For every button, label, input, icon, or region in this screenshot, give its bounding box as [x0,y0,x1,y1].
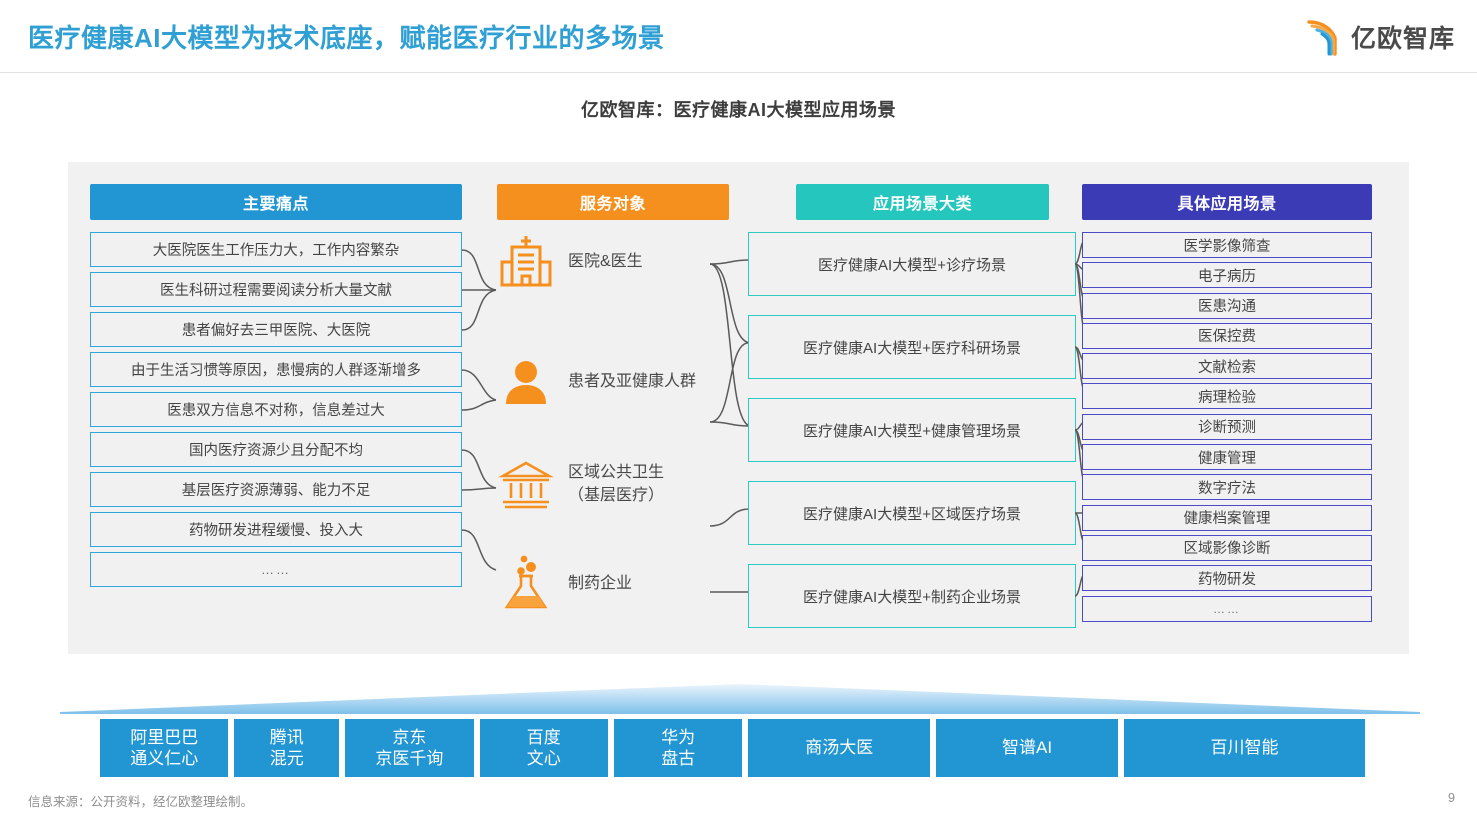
pain-point-item: 医患双方信息不对称，信息差过大 [90,392,462,427]
pain-point-item: 患者偏好去三甲医院、大医院 [90,312,462,347]
specific-scenario-item: 医患沟通 [1082,293,1372,319]
pain-point-item: 由于生活习惯等原因，患慢病的人群逐渐增多 [90,352,462,387]
company-line1: 商汤大医 [805,737,873,758]
company-item[interactable]: 阿里巴巴 通义仁心 [100,719,228,777]
chart-subtitle: 亿欧智库：医疗健康AI大模型应用场景 [0,96,1477,122]
specific-scenario-item: 数字疗法 [1082,474,1372,500]
company-item[interactable]: 商汤大医 [748,719,930,777]
company-line2: 混元 [270,748,304,769]
company-list: 阿里巴巴 通义仁心 腾讯 混元 京东 京医千询 百度 文心 华为 盘古 商汤大医… [100,719,1365,777]
company-line2: 通义仁心 [130,748,198,769]
scenario-category-item: 医疗健康AI大模型+诊疗场景 [748,232,1076,296]
service-object-label: 区域公共卫生 （基层医疗） [568,461,664,507]
service-object-row: 患者及亚健康人群 [498,352,696,412]
page-number: 9 [1448,791,1455,805]
scenario-category-item: 医疗健康AI大模型+健康管理场景 [748,398,1076,462]
brand-logo: 亿欧智库 [1305,14,1455,60]
slide-page: 医疗健康AI大模型为技术底座，赋能医疗行业的多场景 亿欧智库 亿欧智库：医疗健康… [0,0,1477,819]
scenario-category-item: 医疗健康AI大模型+制药企业场景 [748,564,1076,628]
specific-scenario-item: 健康档案管理 [1082,505,1372,531]
specific-scenario-item: 健康管理 [1082,444,1372,470]
logo-text: 亿欧智库 [1351,19,1455,55]
company-item[interactable]: 百川智能 [1124,719,1365,777]
service-object-row: 医院&医生 [498,232,643,292]
company-item[interactable]: 京东 京医千询 [345,719,473,777]
specific-scenario-list: 医学影像筛查 电子病历 医患沟通 医保控费 文献检索 病理检验 诊断预测 健康管… [1082,232,1372,626]
service-object-label-line1: 区域公共卫生 [568,461,664,484]
column-header-service: 服务对象 [497,184,729,220]
company-line1: 京东 [392,727,426,748]
service-object-list: 医院&医生 患者及亚健康人群 [488,224,738,624]
pain-point-item: 医生科研过程需要阅读分析大量文献 [90,272,462,307]
pain-point-item: 国内医疗资源少且分配不均 [90,432,462,467]
service-object-row: 制药企业 [498,554,632,614]
service-object-row: 区域公共卫生 （基层医疗） [498,454,664,514]
company-item[interactable]: 华为 盘古 [614,719,742,777]
company-line2: 京医千询 [375,748,443,769]
service-object-label: 医院&医生 [568,250,643,273]
funnel-arrow-shape [60,668,1420,714]
service-object-label: 制药企业 [568,572,632,595]
specific-scenario-item: 诊断预测 [1082,414,1372,440]
company-item[interactable]: 腾讯 混元 [234,719,339,777]
person-icon [498,352,554,412]
pain-point-list: 大医院医生工作压力大，工作内容繁杂 医生科研过程需要阅读分析大量文献 患者偏好去… [90,232,462,592]
source-note: 信息来源：公开资料，经亿欧整理绘制。 [28,791,253,810]
service-object-label-line2: （基层医疗） [568,484,664,507]
service-object-label: 患者及亚健康人群 [568,370,696,393]
government-building-icon [498,454,554,514]
company-line1: 百度 [527,727,561,748]
slide-header: 医疗健康AI大模型为技术底座，赋能医疗行业的多场景 亿欧智库 [0,0,1477,72]
company-line1: 智谱AI [1002,737,1052,758]
specific-scenario-item: 医学影像筛查 [1082,232,1372,258]
pain-point-item: 基层医疗资源薄弱、能力不足 [90,472,462,507]
pain-point-item-ellipsis: …… [90,552,462,587]
yiou-logo-icon [1305,16,1347,58]
company-item[interactable]: 百度 文心 [480,719,608,777]
header-divider [0,72,1477,73]
hospital-icon [498,232,554,292]
specific-scenario-item: 电子病历 [1082,262,1372,288]
company-item[interactable]: 智谱AI [936,719,1118,777]
company-line1: 腾讯 [270,727,304,748]
scenario-category-item: 医疗健康AI大模型+区域医疗场景 [748,481,1076,545]
company-line1: 阿里巴巴 [130,727,198,748]
company-line1: 华为 [661,727,695,748]
flask-icon [498,554,554,614]
diagram-panel: 主要痛点 服务对象 应用场景大类 具体应用场景 大医院医生工作压力大，工作内容繁… [68,162,1409,654]
specific-scenario-item: 药物研发 [1082,565,1372,591]
scenario-category-item: 医疗健康AI大模型+医疗科研场景 [748,315,1076,379]
specific-scenario-item: 医保控费 [1082,323,1372,349]
column-header-scenario: 具体应用场景 [1082,184,1372,220]
page-title: 医疗健康AI大模型为技术底座，赋能医疗行业的多场景 [28,18,665,55]
pain-point-item: 大医院医生工作压力大，工作内容繁杂 [90,232,462,267]
specific-scenario-item: 区域影像诊断 [1082,535,1372,561]
column-header-pain: 主要痛点 [90,184,462,220]
company-line2: 盘古 [661,748,695,769]
pain-point-item: 药物研发进程缓慢、投入大 [90,512,462,547]
column-header-category: 应用场景大类 [796,184,1049,220]
specific-scenario-item-ellipsis: …… [1082,596,1372,622]
specific-scenario-item: 病理检验 [1082,383,1372,409]
company-line1: 百川智能 [1210,737,1278,758]
specific-scenario-item: 文献检索 [1082,353,1372,379]
company-line2: 文心 [527,748,561,769]
